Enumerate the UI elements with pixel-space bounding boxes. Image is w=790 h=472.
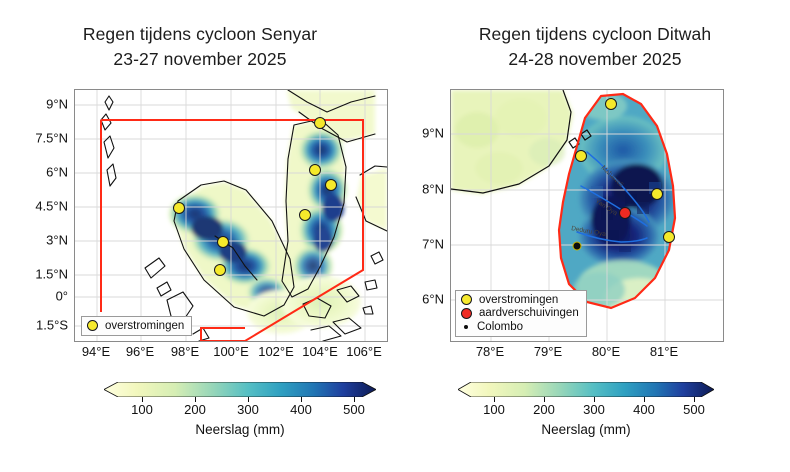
xtick-ditwah-0: 78°E bbox=[476, 344, 504, 359]
colorbar-ditwah-gradient bbox=[458, 382, 714, 397]
legend-label: overstromingen bbox=[479, 294, 558, 307]
xtick-senyar-4: 102°E bbox=[258, 344, 294, 359]
flood-marker[interactable] bbox=[314, 117, 326, 129]
colorbar-ditwah: 100 200 300 400 500 Neerslag (mm) bbox=[458, 382, 714, 397]
ytick-senyar-7: 1.5°S bbox=[4, 318, 68, 333]
ytick-senyar-2: 6°N bbox=[4, 165, 68, 180]
flood-marker[interactable] bbox=[217, 236, 229, 248]
panel-senyar-title-line1: Regen tijdens cycloon Senyar bbox=[83, 24, 317, 44]
panel-senyar: Regen tijdens cycloon Senyar 23-27 novem… bbox=[0, 0, 400, 472]
xtick-ditwah-2: 80°E bbox=[592, 344, 620, 359]
ytick-senyar-4: 3°N bbox=[4, 233, 68, 248]
xtick-senyar-0: 94°E bbox=[82, 344, 110, 359]
xtick-senyar-5: 104°E bbox=[302, 344, 338, 359]
colorbar-senyar: 100 200 300 400 500 Neerslag (mm) bbox=[104, 382, 376, 397]
panel-ditwah: Regen tijdens cycloon Ditwah 24-28 novem… bbox=[400, 0, 790, 472]
legend-item-overstromingen: overstromingen bbox=[461, 294, 579, 307]
flood-marker[interactable] bbox=[325, 179, 337, 191]
map-ditwah-legend: overstromingen aardverschuivingen Colomb… bbox=[455, 290, 587, 338]
ytick-senyar-5: 1.5°N bbox=[4, 267, 68, 282]
colorbar-senyar-tick-0: 100 bbox=[131, 402, 153, 417]
colorbar-senyar-tick-4: 500 bbox=[343, 402, 365, 417]
legend-item-colombo: Colombo bbox=[461, 321, 579, 334]
xtick-ditwah-1: 79°E bbox=[534, 344, 562, 359]
xtick-senyar-6: 106°E bbox=[346, 344, 382, 359]
panel-ditwah-title-line2: 24-28 november 2025 bbox=[400, 47, 790, 72]
map-ditwah[interactable]: Mahaweli Yan Oya Deduru Oya ove bbox=[450, 89, 724, 342]
panel-ditwah-title-line1: Regen tijdens cycloon Ditwah bbox=[479, 24, 711, 44]
map-senyar[interactable]: overstromingen bbox=[74, 89, 388, 342]
ytick-senyar-6: 0° bbox=[4, 289, 68, 304]
panel-ditwah-title: Regen tijdens cycloon Ditwah 24-28 novem… bbox=[400, 22, 790, 72]
flood-marker-icon bbox=[87, 320, 98, 331]
flood-marker[interactable] bbox=[651, 188, 663, 200]
colorbar-ditwah-label: Neerslag (mm) bbox=[458, 422, 714, 437]
ytick-ditwah-1: 8°N bbox=[400, 182, 444, 197]
legend-item-overstromingen: overstromingen bbox=[87, 320, 184, 333]
flood-marker-icon bbox=[461, 294, 472, 305]
colorbar-ditwah-tick-4: 500 bbox=[683, 402, 705, 417]
figure-canvas: Regen tijdens cycloon Senyar 23-27 novem… bbox=[0, 0, 790, 472]
colombo-marker[interactable] bbox=[573, 242, 582, 251]
panel-senyar-title-line2: 23-27 november 2025 bbox=[0, 47, 400, 72]
legend-item-aardverschuivingen: aardverschuivingen bbox=[461, 307, 579, 320]
flood-marker[interactable] bbox=[605, 98, 617, 110]
map-senyar-canvas bbox=[75, 90, 387, 341]
colorbar-senyar-tick-2: 300 bbox=[237, 402, 259, 417]
panel-senyar-title: Regen tijdens cycloon Senyar 23-27 novem… bbox=[0, 22, 400, 72]
xtick-senyar-2: 98°E bbox=[171, 344, 199, 359]
colorbar-senyar-label: Neerslag (mm) bbox=[104, 422, 376, 437]
landslide-marker-icon bbox=[461, 308, 472, 319]
xtick-ditwah-3: 81°E bbox=[650, 344, 678, 359]
ytick-ditwah-0: 9°N bbox=[400, 126, 444, 141]
colorbar-senyar-gradient bbox=[104, 382, 376, 397]
colorbar-ditwah-tick-1: 200 bbox=[533, 402, 555, 417]
colorbar-ditwah-tick-3: 400 bbox=[633, 402, 655, 417]
flood-marker[interactable] bbox=[309, 164, 321, 176]
colorbar-senyar-tick-1: 200 bbox=[184, 402, 206, 417]
city-marker-icon bbox=[464, 325, 468, 329]
flood-marker[interactable] bbox=[214, 264, 226, 276]
legend-label: aardverschuivingen bbox=[479, 307, 579, 320]
flood-marker[interactable] bbox=[299, 209, 311, 221]
ytick-senyar-0: 9°N bbox=[4, 97, 68, 112]
xtick-senyar-1: 96°E bbox=[126, 344, 154, 359]
colorbar-ditwah-tick-2: 300 bbox=[583, 402, 605, 417]
ytick-ditwah-2: 7°N bbox=[400, 237, 444, 252]
flood-marker[interactable] bbox=[663, 231, 675, 243]
xtick-senyar-3: 100°E bbox=[213, 344, 249, 359]
landslide-marker[interactable] bbox=[619, 207, 631, 219]
legend-label: overstromingen bbox=[105, 320, 184, 333]
legend-label: Colombo bbox=[477, 321, 523, 334]
map-senyar-legend: overstromingen bbox=[81, 316, 192, 337]
ytick-senyar-3: 4.5°N bbox=[4, 199, 68, 214]
flood-marker[interactable] bbox=[173, 202, 185, 214]
colorbar-senyar-tick-3: 400 bbox=[290, 402, 312, 417]
ytick-ditwah-3: 6°N bbox=[400, 292, 444, 307]
ytick-senyar-1: 7.5°N bbox=[4, 131, 68, 146]
flood-marker[interactable] bbox=[575, 150, 587, 162]
colorbar-ditwah-tick-0: 100 bbox=[483, 402, 505, 417]
